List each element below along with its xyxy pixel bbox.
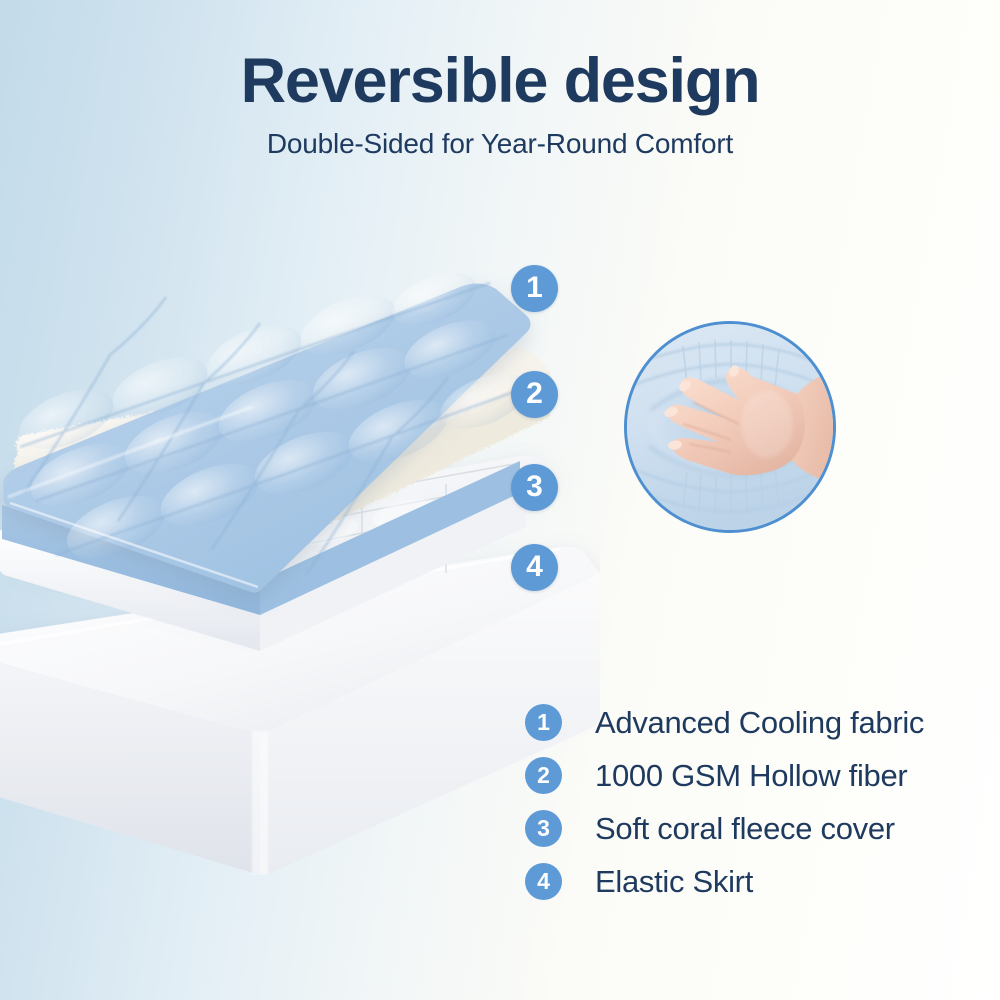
feature-legend: 1 Advanced Cooling fabric 2 1000 GSM Hol…	[525, 696, 924, 908]
legend-label-3: Soft coral fleece cover	[595, 811, 895, 847]
legend-badge-1: 1	[525, 704, 562, 741]
legend-label-1: Advanced Cooling fabric	[595, 705, 924, 741]
header: Reversible design Double-Sided for Year-…	[0, 48, 1000, 160]
legend-item-1[interactable]: 1 Advanced Cooling fabric	[525, 696, 924, 749]
legend-label-4: Elastic Skirt	[595, 864, 753, 900]
legend-item-2[interactable]: 2 1000 GSM Hollow fiber	[525, 749, 924, 802]
legend-badge-4: 4	[525, 863, 562, 900]
callout-badge-2[interactable]: 2	[511, 371, 558, 418]
callout-badge-4[interactable]: 4	[511, 544, 558, 591]
callout-badge-1[interactable]: 1	[511, 265, 558, 312]
legend-badge-3: 3	[525, 810, 562, 847]
legend-badge-2: 2	[525, 757, 562, 794]
hand-press-inset-image	[624, 321, 836, 533]
callout-badge-3[interactable]: 3	[511, 464, 558, 511]
mattress-layers-illustration	[0, 175, 600, 875]
page-title: Reversible design	[0, 48, 1000, 114]
legend-item-4[interactable]: 4 Elastic Skirt	[525, 855, 924, 908]
legend-label-2: 1000 GSM Hollow fiber	[595, 758, 907, 794]
legend-item-3[interactable]: 3 Soft coral fleece cover	[525, 802, 924, 855]
page-subtitle: Double-Sided for Year-Round Comfort	[0, 128, 1000, 160]
product-infographic-poster: Reversible design Double-Sided for Year-…	[0, 0, 1000, 1000]
